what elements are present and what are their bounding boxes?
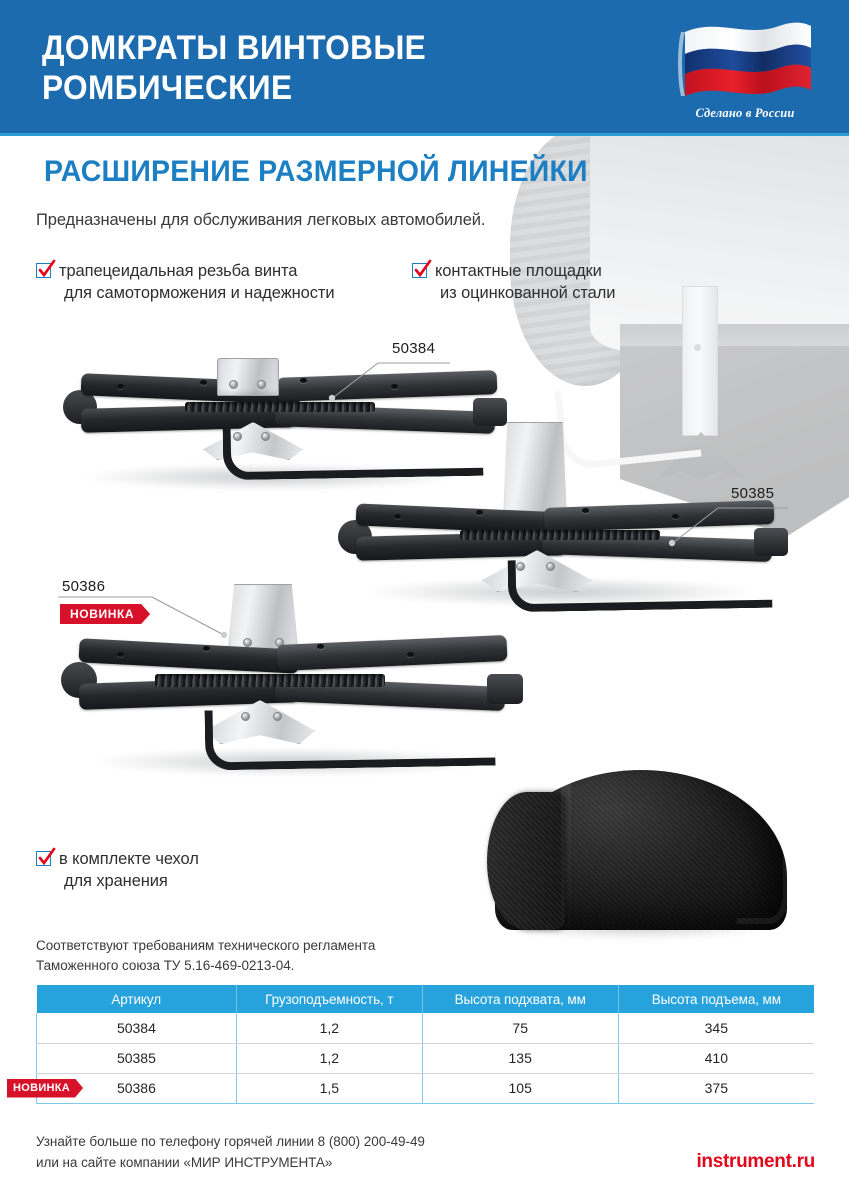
intro-text: Предназначены для обслуживания легковых … [36, 211, 485, 230]
table-cell-pickup-height: 135 [422, 1043, 618, 1073]
flag-svg [669, 16, 821, 108]
page-title-line2: РОМБИЧЕСКИЕ [42, 68, 619, 108]
feature-line2: для хранения [59, 870, 199, 892]
feature-line2: из оцинкованной стали [435, 282, 615, 304]
jack-trapezoidal-screw [155, 674, 385, 687]
feature-item-contact-pads: контактные площадки из оцинкованной стал… [412, 260, 615, 304]
table-cell-artikul-value: 50386 [117, 1080, 156, 1096]
table-cell-artikul: НОВИНКА 50386 [37, 1073, 237, 1103]
leader-line-50384 [322, 355, 452, 405]
jack-pad-bolt [229, 380, 238, 389]
section-subtitle: РАСШИРЕНИЕ РАЗМЕРНОЙ ЛИНЕЙКИ [44, 155, 588, 189]
jack-pad-bolt [243, 638, 252, 647]
bag-seam [561, 780, 571, 928]
jack-upper-arm-right [277, 635, 508, 671]
jack-arm-hole [582, 508, 589, 513]
flag-caption: Сделано в России [669, 106, 821, 121]
checkbox-checked-icon [412, 263, 427, 278]
jack-arm-hole [117, 652, 124, 657]
jack-arm-hole [317, 644, 324, 649]
table-cell-artikul: 50385 [37, 1043, 237, 1073]
table-header-row: Артикул Грузоподъемность, т Высота подхв… [37, 985, 815, 1013]
footer-contact-text: Узнайте больше по телефону горячей линии… [36, 1132, 425, 1174]
feature-label: в комплекте чехол для хранения [59, 848, 199, 892]
feature-line1: контактные площадки [435, 260, 615, 282]
table-cell-capacity: 1,2 [236, 1043, 422, 1073]
feature-label: контактные площадки из оцинкованной стал… [435, 260, 615, 304]
footer-line2: или на сайте компании «МИР ИНСТРУМЕНТА» [36, 1153, 425, 1174]
jack-arm-hole [200, 380, 207, 385]
table-cell-pickup-height: 75 [422, 1013, 618, 1043]
bg-jack-pin [694, 344, 701, 351]
checkmark-glyph [35, 259, 57, 281]
page-title-line1: ДОМКРАТЫ ВИНТОВЫЕ [42, 29, 426, 67]
table-cell-artikul: 50384 [37, 1013, 237, 1043]
page-header: ДОМКРАТЫ ВИНТОВЫЕ РОМБИЧЕСКИЕ [0, 0, 849, 133]
feature-item-screw-thread: трапецеидальная резьба винта для самотор… [36, 260, 334, 304]
jack-arm-hole [117, 384, 124, 389]
feature-label: трапецеидальная резьба винта для самотор… [59, 260, 334, 304]
table-cell-lift-height: 410 [618, 1043, 814, 1073]
leader-line-50385 [660, 500, 790, 550]
bg-car-body [590, 136, 849, 351]
leader-line-50386 [58, 592, 238, 642]
bag-flap [487, 792, 565, 930]
footer-line1: Узнайте больше по телефону горячей линии… [36, 1132, 425, 1153]
specifications-table: Артикул Грузоподъемность, т Высота подхв… [36, 985, 814, 1104]
jack-arm-hole [203, 646, 210, 651]
table-col-lift-height: Высота подъема, мм [618, 985, 814, 1013]
feature-line1: в комплекте чехол [59, 848, 199, 870]
jack-pad-bolt [257, 380, 266, 389]
jack-arm-hole [407, 652, 414, 657]
jack-trapezoidal-screw [460, 530, 660, 540]
table-col-pickup-height: Высота подхвата, мм [422, 985, 618, 1013]
feature-item-storage-case: в комплекте чехол для хранения [36, 848, 199, 892]
checkbox-checked-icon [36, 851, 51, 866]
checkmark-glyph [411, 259, 433, 281]
table-col-capacity: Грузоподъемность, т [236, 985, 422, 1013]
jack-arm-hole [300, 378, 307, 383]
table-cell-pickup-height: 105 [422, 1073, 618, 1103]
table-cell-capacity: 1,5 [236, 1073, 422, 1103]
table-cell-lift-height: 345 [618, 1013, 814, 1043]
checkmark-glyph [35, 847, 57, 869]
jack-top-contact-pad [217, 358, 279, 396]
compliance-line2: Таможенного союза ТУ 5.16-469-0213-04. [36, 956, 375, 976]
product-datasheet-page: ДОМКРАТЫ ВИНТОВЫЕ РОМБИЧЕСКИЕ [0, 0, 849, 1200]
compliance-text: Соответствуют требованиям технического р… [36, 936, 375, 977]
new-badge-table: НОВИНКА [7, 1079, 83, 1098]
russian-flag-icon: Сделано в России [669, 16, 821, 122]
table-cell-lift-height: 375 [618, 1073, 814, 1103]
table-row: 50385 1,2 135 410 [37, 1043, 815, 1073]
table-cell-capacity: 1,2 [236, 1013, 422, 1043]
table-row: НОВИНКА 50386 1,5 105 375 [37, 1073, 815, 1103]
jack-arm-hole [476, 510, 483, 515]
jack-drive-knuckle [487, 674, 523, 704]
product-photo-storage-bag [487, 758, 795, 943]
jack-crank-handle [204, 705, 495, 770]
bag-opening-lip [737, 774, 789, 924]
feature-line1: трапецеидальная резьба винта [59, 260, 334, 282]
compliance-line1: Соответствуют требованиям технического р… [36, 936, 375, 956]
checkbox-checked-icon [36, 263, 51, 278]
feature-line2: для самоторможения и надежности [59, 282, 334, 304]
table-col-artikul: Артикул [37, 985, 237, 1013]
page-title: ДОМКРАТЫ ВИНТОВЫЕ РОМБИЧЕСКИЕ [42, 28, 619, 108]
jack-arm-hole [394, 514, 401, 519]
header-accent-line [0, 133, 849, 136]
table-row: 50384 1,2 75 345 [37, 1013, 815, 1043]
website-logo[interactable]: instrument.ru [696, 1151, 815, 1173]
